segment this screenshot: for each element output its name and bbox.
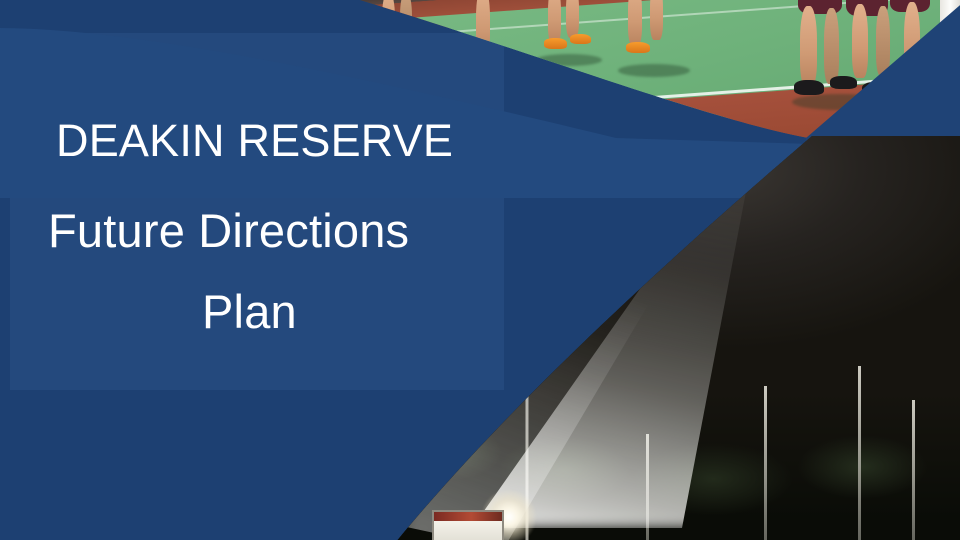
scoreboard-face [434, 521, 502, 540]
title-slide: DEAKIN RESERVE Future Directions Plan [0, 0, 960, 540]
slide-title-secondary-line1: Future Directions [0, 207, 520, 254]
player-shoe [794, 80, 824, 95]
goal-post [858, 366, 861, 540]
player-leg [824, 8, 839, 84]
player-leg [852, 4, 868, 78]
scoreboard-sign [432, 510, 504, 540]
player-leg [876, 6, 890, 76]
goal-post [912, 400, 915, 540]
goal-post [764, 386, 767, 540]
slide-title-secondary-line2: Plan [0, 288, 520, 335]
title-block: DEAKIN RESERVE Future Directions Plan [0, 118, 520, 335]
player-shoe [830, 76, 857, 89]
player-shoe [570, 34, 591, 44]
player-leg [800, 6, 817, 86]
player-leg [566, 0, 579, 38]
scoreboard-header [434, 512, 502, 521]
player-shoe [626, 42, 650, 53]
player-shadow [618, 64, 690, 77]
player-shoe [544, 38, 567, 49]
player-leg [650, 0, 663, 40]
player-leg [628, 0, 642, 46]
slide-title-primary: DEAKIN RESERVE [0, 118, 520, 163]
